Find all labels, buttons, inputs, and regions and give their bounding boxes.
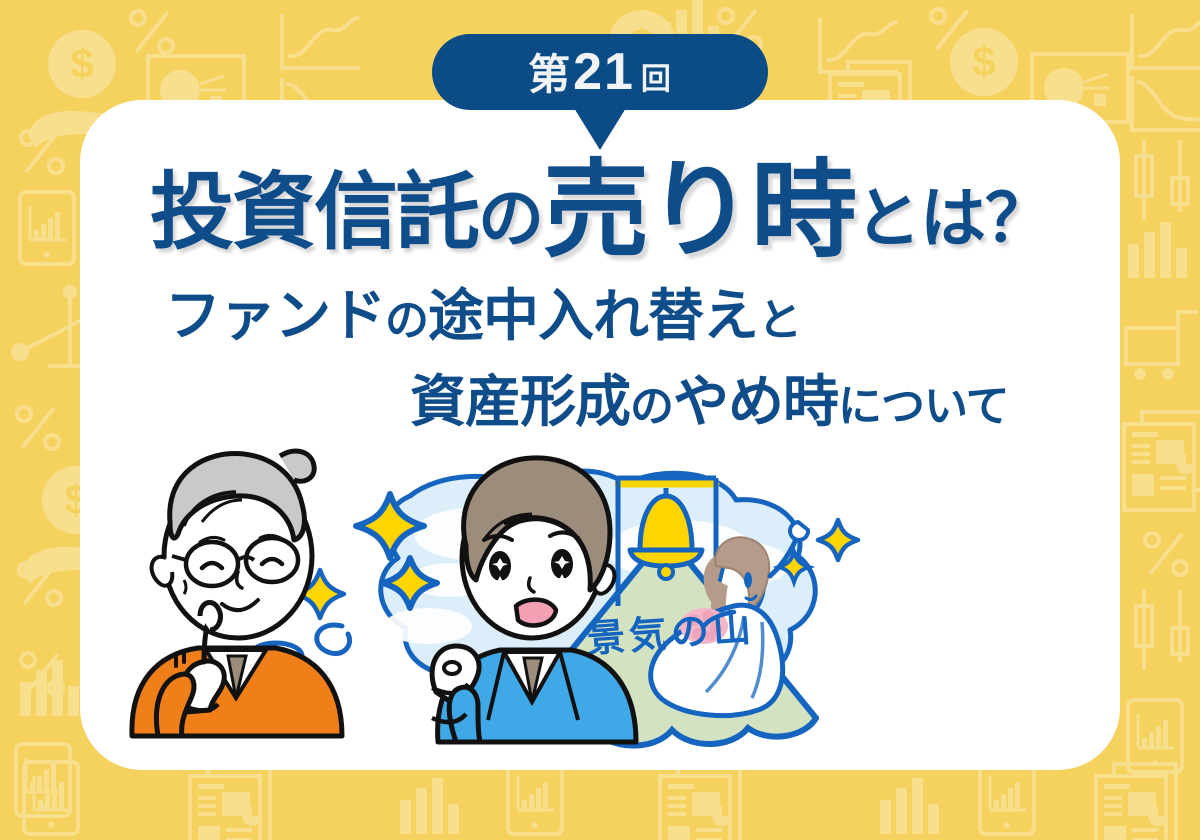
page-title: 投資信託の売り時とは？ [0,152,1200,258]
badge-pill: 第21回 [432,34,768,110]
badge-text: 第21回 [528,46,672,98]
subtitle2-a: 資産形成 [410,370,630,433]
title-part-1: 投資信託 [150,165,478,259]
subtitle1-c: 途中入れ替え [428,284,758,347]
badge-number: 21 [571,46,637,98]
badge-suffix: 回 [637,65,672,95]
subtitle2-c: やめ時 [673,370,838,433]
poster-canvas: $ [0,0,1200,840]
title-emphasis: 売り時 [543,152,855,270]
badge-prefix: 第 [528,54,571,96]
subtitle1-a: ファンド [165,284,385,347]
illustration: 景気の山 [80,430,1120,770]
badge-pointer [574,108,626,150]
subtitle1-b: の [385,296,428,345]
subtitle-line-1: ファンドの途中入れ替えと [165,288,801,344]
subtitle2-d: について [838,382,1009,431]
subtitle-line-2: 資産形成のやめ時について [410,374,1009,430]
subtitle2-b: の [630,382,673,431]
title-part-3: とは？ [855,181,1050,255]
episode-badge: 第21回 [432,34,768,110]
title-particle-no: の [478,181,543,255]
subtitle1-d: と [758,296,801,345]
